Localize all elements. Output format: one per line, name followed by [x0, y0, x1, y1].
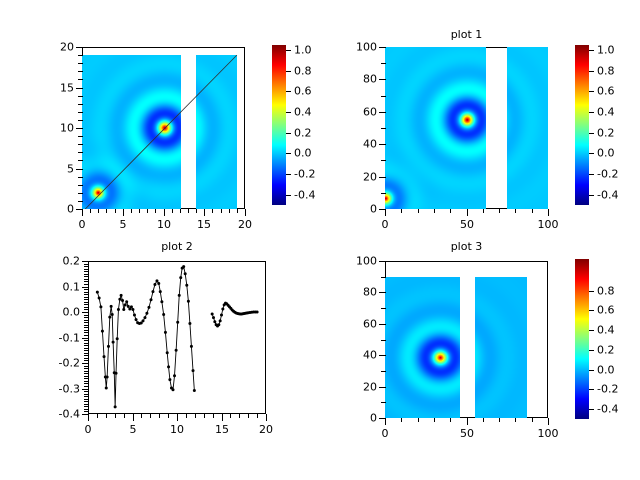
- colorbar-tick: [589, 291, 594, 292]
- x-tick-label: 15: [215, 423, 229, 436]
- colorbar-tick-label: 1.0: [597, 44, 615, 57]
- colorbar-tick: [286, 174, 291, 175]
- colorbar-tick: [286, 133, 291, 134]
- y-tick-minor: [84, 358, 89, 359]
- y-tick-minor: [84, 350, 89, 351]
- colorbar-tick-label: 0.0: [597, 147, 615, 160]
- colorbar-tick-label: -0.4: [597, 403, 618, 416]
- y-tick-minor: [84, 340, 89, 341]
- colorbar-tick: [589, 91, 594, 92]
- y-tick-minor: [84, 396, 89, 397]
- y-tick-minor: [84, 335, 89, 336]
- y-tick-minor: [84, 381, 89, 382]
- colorbar-tick-label: 1.0: [294, 44, 312, 57]
- colorbar-ticks-bottom-right: 0.80.60.40.20.0-0.2-0.4: [320, 240, 640, 480]
- y-tick-minor: [84, 391, 89, 392]
- x-tick-label: 0: [85, 423, 92, 436]
- colorbar-tick-label: 0.2: [597, 127, 615, 140]
- y-tick-minor: [84, 281, 89, 282]
- colorbar-tick-label: 0.6: [597, 304, 615, 317]
- y-tick-minor: [84, 332, 89, 333]
- x-tick-minor: [186, 414, 187, 418]
- colorbar-tick: [589, 330, 594, 331]
- y-tick-major: [82, 363, 89, 364]
- y-tick-minor: [84, 299, 89, 300]
- colorbar-tick-label: 0.6: [597, 85, 615, 98]
- colorbar-tick: [286, 112, 291, 113]
- y-tick-minor: [84, 271, 89, 272]
- y-tick-label: -0.3: [59, 383, 80, 396]
- colorbar-tick-label: -0.2: [294, 168, 315, 181]
- x-tick-minor: [230, 414, 231, 418]
- y-tick-minor: [84, 307, 89, 308]
- y-tick-label: 0.0: [63, 306, 81, 319]
- y-tick-minor: [84, 302, 89, 303]
- y-tick-minor: [84, 289, 89, 290]
- x-tick-minor: [106, 414, 107, 418]
- colorbar-tick: [286, 195, 291, 196]
- colorbar-tick: [589, 153, 594, 154]
- y-tick-minor: [84, 320, 89, 321]
- y-tick-minor: [84, 366, 89, 367]
- x-tick-major: [177, 414, 178, 421]
- y-tick-minor: [84, 345, 89, 346]
- colorbar-tick-label: 0.8: [597, 285, 615, 298]
- x-tick-minor: [97, 414, 98, 418]
- colorbar-tick-label: 0.6: [294, 85, 312, 98]
- y-tick-label: -0.4: [59, 408, 80, 421]
- colorbar-tick: [589, 409, 594, 410]
- y-tick-minor: [84, 284, 89, 285]
- y-tick-label: 0.2: [63, 255, 81, 268]
- colorbar-tick-label: 0.4: [597, 106, 615, 119]
- panel-bottom-right: plot 3 020406080100050100 0.80.60.40.20.…: [320, 240, 640, 480]
- colorbar-tick-label: 0.4: [294, 106, 312, 119]
- y-tick-minor: [84, 322, 89, 323]
- colorbar-tick: [589, 350, 594, 351]
- colorbar-tick-label: -0.4: [597, 189, 618, 202]
- x-tick-minor: [204, 414, 205, 418]
- y-tick-minor: [84, 371, 89, 372]
- colorbar-tick: [589, 195, 594, 196]
- colorbar-tick-label: 0.8: [597, 65, 615, 78]
- y-tick-major: [82, 389, 89, 390]
- colorbar-tick: [589, 133, 594, 134]
- y-tick-label: -0.1: [59, 332, 80, 345]
- x-tick-major: [266, 414, 267, 421]
- y-tick-minor: [84, 276, 89, 277]
- y-tick-minor: [84, 409, 89, 410]
- colorbar-tick: [286, 71, 291, 72]
- x-tick-major: [133, 414, 134, 421]
- x-tick-minor: [168, 414, 169, 418]
- y-tick-minor: [84, 309, 89, 310]
- y-tick-minor: [84, 399, 89, 400]
- panel-top-right: plot 1 020406080100050100 1.00.80.60.40.…: [320, 0, 640, 240]
- y-tick-label: 0.1: [63, 281, 81, 294]
- y-tick-minor: [84, 383, 89, 384]
- y-tick-minor: [84, 315, 89, 316]
- x-tick-label: 10: [170, 423, 184, 436]
- x-tick-minor: [195, 414, 196, 418]
- colorbar-tick: [589, 112, 594, 113]
- y-tick-minor: [84, 411, 89, 412]
- colorbar-tick: [286, 153, 291, 154]
- y-tick-minor: [84, 401, 89, 402]
- colorbar-tick: [286, 91, 291, 92]
- x-tick-major: [88, 414, 89, 421]
- x-tick-minor: [124, 414, 125, 418]
- x-tick-major: [222, 414, 223, 421]
- y-tick-minor: [84, 376, 89, 377]
- y-tick-minor: [84, 266, 89, 267]
- y-tick-minor: [84, 386, 89, 387]
- x-tick-minor: [248, 414, 249, 418]
- colorbar-ticks-top-right: 1.00.80.60.40.20.0-0.2-0.4: [320, 0, 640, 240]
- colorbar-tick-label: 0.8: [294, 65, 312, 78]
- y-tick-minor: [84, 304, 89, 305]
- y-tick-minor: [84, 360, 89, 361]
- x-tick-label: 20: [259, 423, 273, 436]
- colorbar-tick: [589, 370, 594, 371]
- y-tick-minor: [84, 264, 89, 265]
- y-tick-minor: [84, 378, 89, 379]
- colorbar-tick-label: 0.4: [597, 324, 615, 337]
- y-tick-minor: [84, 327, 89, 328]
- y-tick-minor: [84, 330, 89, 331]
- colorbar-tick: [589, 174, 594, 175]
- y-tick-minor: [84, 394, 89, 395]
- colorbar-tick-label: -0.2: [597, 168, 618, 181]
- y-tick-label: -0.2: [59, 357, 80, 370]
- y-tick-major: [82, 287, 89, 288]
- colorbar-tick: [589, 310, 594, 311]
- y-tick-minor: [84, 348, 89, 349]
- axes-bottom-left: 0.20.10.0-0.1-0.2-0.3-0.405101520: [0, 240, 320, 480]
- colorbar-tick-label: 0.0: [294, 147, 312, 160]
- colorbar-tick-label: -0.2: [597, 383, 618, 396]
- y-tick-major: [82, 338, 89, 339]
- y-tick-minor: [84, 269, 89, 270]
- colorbar-tick-label: -0.4: [294, 189, 315, 202]
- colorbar-tick: [589, 71, 594, 72]
- x-tick-minor: [141, 414, 142, 418]
- y-tick-minor: [84, 297, 89, 298]
- colorbar-tick-label: 0.2: [294, 127, 312, 140]
- y-tick-minor: [84, 279, 89, 280]
- y-tick-minor: [84, 294, 89, 295]
- y-tick-minor: [84, 404, 89, 405]
- y-tick-minor: [84, 368, 89, 369]
- y-tick-minor: [84, 317, 89, 318]
- y-tick-minor: [84, 325, 89, 326]
- y-tick-minor: [84, 373, 89, 374]
- x-tick-minor: [213, 414, 214, 418]
- colorbar-tick-label: 0.2: [597, 344, 615, 357]
- y-tick-minor: [84, 353, 89, 354]
- colorbar-ticks-top-left: 1.00.80.60.40.20.0-0.2-0.4: [0, 0, 320, 240]
- colorbar-tick: [589, 50, 594, 51]
- y-tick-major: [82, 312, 89, 313]
- colorbar-tick-label: 0.0: [597, 364, 615, 377]
- x-tick-minor: [115, 414, 116, 418]
- x-tick-label: 5: [130, 423, 137, 436]
- x-tick-minor: [159, 414, 160, 418]
- y-tick-minor: [84, 274, 89, 275]
- y-tick-minor: [84, 406, 89, 407]
- colorbar-tick: [589, 389, 594, 390]
- colorbar-tick: [286, 50, 291, 51]
- panel-top-left: 0510152005101520 1.00.80.60.40.20.0-0.2-…: [0, 0, 320, 240]
- x-tick-minor: [150, 414, 151, 418]
- y-tick-minor: [84, 343, 89, 344]
- x-tick-minor: [239, 414, 240, 418]
- panel-bottom-left: plot 2 0.20.10.0-0.1-0.2-0.3-0.405101520: [0, 240, 320, 480]
- x-tick-minor: [257, 414, 258, 418]
- y-tick-minor: [84, 355, 89, 356]
- y-tick-minor: [84, 292, 89, 293]
- y-tick-major: [82, 261, 89, 262]
